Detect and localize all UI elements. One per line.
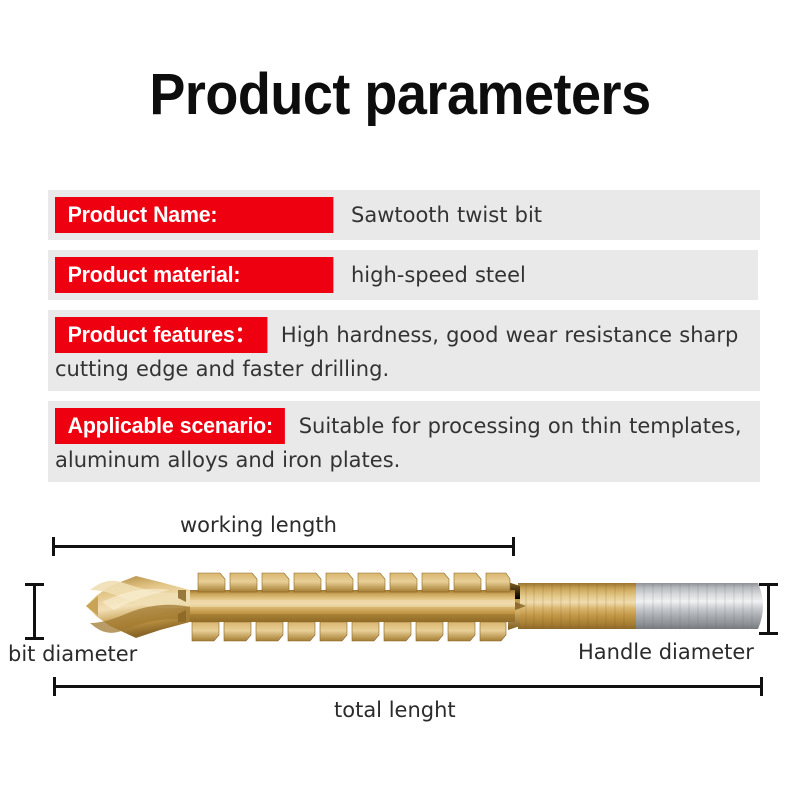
spec-list: Product Name:Sawtooth twist bit Product … [48,190,760,492]
handle-diameter-tick [767,583,770,635]
spec-value-product-name: Sawtooth twist bit [342,203,542,227]
spec-label-product-features: Product features： [55,317,267,353]
handle-diameter-cap-bottom [759,632,778,635]
bit-diameter-tick [33,583,36,640]
total-length-line [53,685,763,688]
handle-diameter-cap-top [759,583,778,586]
dimension-drawing: working length [0,500,800,750]
working-length-line [52,545,515,548]
total-length-cap-right [760,677,763,696]
working-length-cap-right [512,537,515,556]
spec-line: Product Name:Sawtooth twist bit [55,197,752,233]
handle-diameter-label: Handle diameter [578,640,754,664]
spec-value-product-material: high-speed steel [342,263,526,287]
bit-diameter-cap-bottom [25,637,44,640]
spec-row-product-material: Product material:high-speed steel [48,250,758,300]
spec-label-product-name: Product Name: [55,197,333,233]
spec-row-product-features: Product features：High hardness, good wea… [48,310,760,391]
spec-row-product-name: Product Name:Sawtooth twist bit [48,190,760,240]
spec-label-applicable-scenario: Applicable scenario: [55,408,285,444]
total-length-label: total lenght [334,698,456,722]
working-length-label: working length [180,513,337,537]
spec-row-applicable-scenario: Applicable scenario:Suitable for process… [48,401,760,482]
bit-diameter-cap-top [25,583,44,586]
spec-line: Applicable scenario:Suitable for process… [55,408,752,475]
bit-diameter-label: bit diameter [8,642,137,666]
page-title: Product parameters [28,66,772,124]
total-length-cap-left [53,677,56,696]
working-length-cap-left [52,537,55,556]
spec-line: Product features：High hardness, good wea… [55,317,752,384]
spec-line: Product material:high-speed steel [55,257,750,293]
spec-label-product-material: Product material: [55,257,333,293]
